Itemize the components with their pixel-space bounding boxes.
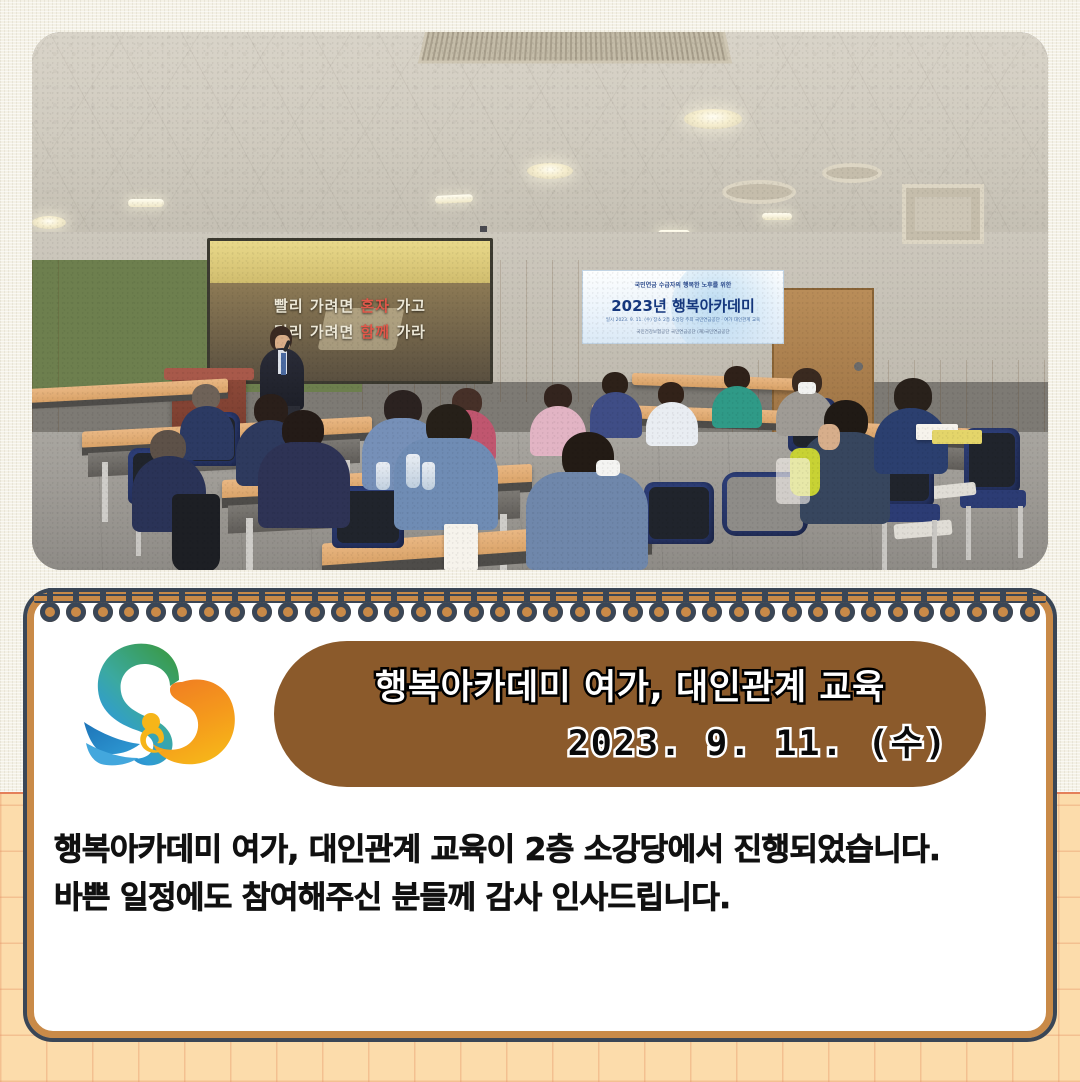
speaker-tie	[281, 353, 286, 375]
screen-text-l1-p1: 빨리 가려면	[274, 297, 354, 315]
spiral-ring	[172, 596, 192, 622]
attendee-body	[258, 442, 350, 528]
spiral-ring	[411, 596, 431, 622]
logo-orange-yellow-swirl	[153, 680, 235, 765]
screen-text-l1-p3: 가고	[396, 297, 426, 315]
water-bottle	[406, 454, 420, 488]
ceiling-texture	[32, 32, 1048, 247]
spiral-ring	[331, 596, 351, 622]
plastic-bag	[776, 458, 810, 504]
spiral-ring	[278, 596, 298, 622]
water-bottle	[422, 462, 435, 490]
attendee-body	[712, 386, 762, 428]
screen-text-l2-p3: 가라	[396, 323, 426, 341]
attendee-body	[590, 392, 642, 438]
event-photo: 빨리 가려면 혼자 가고 멀리 가려면 함께 가라 국민연금 수급자의 행복한 …	[32, 32, 1048, 570]
attendee-body	[180, 406, 234, 460]
face-mask	[798, 382, 816, 394]
spiral-ring	[914, 596, 934, 622]
spiral-ring	[729, 596, 749, 622]
screen-text-l1-p2: 혼자	[361, 297, 391, 315]
door-knob	[854, 362, 863, 371]
spiral-ring	[596, 596, 616, 622]
screen-text-line2: 멀리 가려면 함께 가라	[210, 321, 490, 342]
table-leg	[102, 462, 108, 522]
spiral-ring	[676, 596, 696, 622]
spiral-ring	[967, 596, 987, 622]
ceiling-light-round	[32, 216, 66, 229]
spiral-ring	[146, 596, 166, 622]
attendee-hands	[818, 424, 840, 450]
screen-text-line1: 빨리 가려면 혼자 가고	[210, 295, 490, 316]
face-mask	[596, 460, 620, 476]
spiral-ring	[835, 596, 855, 622]
poster-page: 빨리 가려면 혼자 가고 멀리 가려면 함께 가라 국민연금 수급자의 행복한 …	[0, 0, 1080, 1080]
spiral-ring	[225, 596, 245, 622]
ceiling-ac-unit	[722, 180, 796, 204]
spiral-ring	[464, 596, 484, 622]
spiral-ring	[66, 596, 86, 622]
spiral-ring	[1020, 596, 1040, 622]
wood-wall-panel-left	[32, 260, 82, 450]
spiral-ring	[199, 596, 219, 622]
podium-top	[164, 368, 254, 380]
ceiling-ac-unit	[822, 163, 882, 183]
spiral-ring	[570, 596, 590, 622]
handbag	[172, 494, 220, 570]
spiral-ring	[861, 596, 881, 622]
spiral-ring	[93, 596, 113, 622]
screen-image-sky	[210, 241, 490, 289]
attendee-body	[526, 472, 648, 570]
spiral-ring	[119, 596, 139, 622]
banner-logos: 국민건강보험공단 국민연금공단 (재)국민연금공단	[583, 329, 783, 335]
spiral-ring	[252, 596, 272, 622]
wall-banner: 국민연금 수급자의 행복한 노후를 위한 2023년 행복아카데미 일시 202…	[582, 270, 784, 344]
title-text: 행복아카데미 여가, 대인관계 교육	[274, 659, 986, 710]
spiral-ring	[993, 596, 1013, 622]
banner-line1: 국민연금 수급자의 행복한 노후를 위한	[583, 280, 783, 289]
table-leg	[246, 518, 253, 570]
body-line-2: 바쁜 일정에도 참여해주신 분들께 감사 인사드립니다.	[54, 874, 994, 922]
wall-ac-vent	[902, 184, 984, 244]
spiral-ring	[40, 596, 60, 622]
body-text: 행복아카데미 여가, 대인관계 교육이 2층 소강당에서 진행되었습니다. 바쁜…	[54, 826, 994, 922]
spiral-ring	[358, 596, 378, 622]
ceiling-light-round	[684, 109, 742, 129]
water-bottle	[376, 462, 390, 490]
tissue-box	[444, 524, 478, 570]
spiral-ring	[888, 596, 908, 622]
chair	[644, 482, 714, 544]
happiness-academy-logo	[78, 634, 268, 794]
ceiling-light-linear	[128, 199, 164, 207]
spiral-ring	[305, 596, 325, 622]
spiral-ring	[782, 596, 802, 622]
spiral-binding	[40, 596, 1040, 636]
banner-line2: 2023년 행복아카데미	[583, 295, 783, 316]
yellow-tray	[932, 430, 982, 444]
spiral-ring	[490, 596, 510, 622]
spiral-ring	[517, 596, 537, 622]
chair-leg	[882, 520, 887, 570]
chair-leg	[966, 506, 971, 560]
banner-line3: 일시 2023. 9. 11. (수) 장소 2층 소강당 주최 국민연금공단 …	[583, 317, 783, 323]
spiral-ring	[755, 596, 775, 622]
spiral-ring	[702, 596, 722, 622]
spiral-ring	[384, 596, 404, 622]
spiral-ring	[437, 596, 457, 622]
attendee-body	[646, 402, 698, 446]
ceiling-light-round	[527, 163, 573, 179]
spiral-ring	[808, 596, 828, 622]
ceiling-vent	[418, 32, 732, 64]
spiral-ring	[649, 596, 669, 622]
screen-text-l2-p2: 함께	[361, 323, 391, 341]
spiral-ring	[940, 596, 960, 622]
chair-leg	[1018, 506, 1023, 558]
ceiling-light-linear	[762, 213, 792, 220]
spiral-ring	[543, 596, 563, 622]
body-line-1: 행복아카데미 여가, 대인관계 교육이 2층 소강당에서 진행되었습니다.	[54, 826, 994, 874]
title-pill: 행복아카데미 여가, 대인관계 교육 2023. 9. 11. (수)	[274, 641, 986, 787]
spiral-ring	[623, 596, 643, 622]
projection-screen: 빨리 가려면 혼자 가고 멀리 가려면 함께 가라	[207, 238, 493, 384]
chair-leg	[932, 520, 937, 568]
date-text: 2023. 9. 11. (수)	[568, 715, 948, 766]
